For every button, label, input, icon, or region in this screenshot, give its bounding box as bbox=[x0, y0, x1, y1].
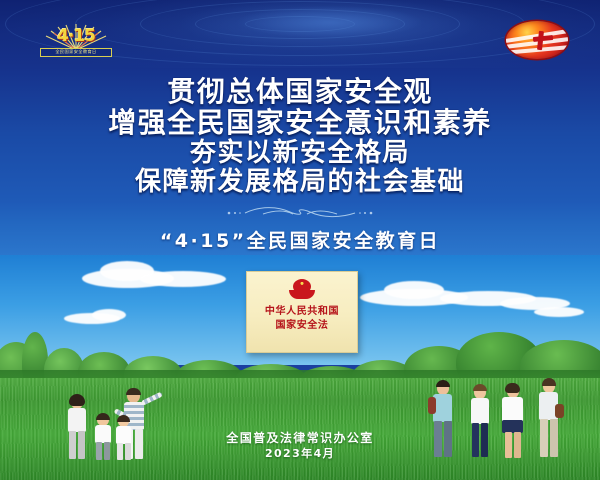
hair bbox=[436, 380, 450, 387]
cloud bbox=[92, 309, 126, 321]
national-emblem-icon bbox=[289, 278, 315, 300]
footer-organization: 全国普及法律常识办公室 bbox=[0, 431, 600, 447]
hair bbox=[126, 388, 141, 395]
poster-header-band: 4·15 全民国家安全教育日 bbox=[0, 0, 600, 68]
emblem-base bbox=[289, 290, 315, 299]
red-oval-emblem-icon bbox=[506, 21, 568, 59]
book-title-line-1: 中华人民共和国 bbox=[265, 305, 339, 319]
headline-line-4: 保障新发展格局的社会基础 bbox=[135, 169, 465, 196]
torso bbox=[502, 397, 523, 422]
headline-block: 贯彻总体国家安全观 增强全民国家安全意识和素养 夯实以新安全格局 保障新发展格局… bbox=[0, 68, 600, 205]
hair bbox=[542, 378, 556, 386]
subtitle-block: “4·15”全民国家安全教育日 bbox=[0, 223, 600, 255]
emblem-caption-box: 全民国家安全教育日 bbox=[40, 48, 112, 57]
ornamental-divider bbox=[0, 203, 600, 223]
safety-education-poster: 4·15 全民国家安全教育日 贯彻总体国家安全观 增强全民国家安全意识和素养 夯… bbox=[0, 0, 600, 480]
footer-date: 2023年4月 bbox=[0, 447, 600, 461]
hair bbox=[117, 415, 130, 422]
emblem-stars bbox=[298, 281, 306, 287]
flourish-icon bbox=[185, 206, 415, 220]
emblem-caption: 全民国家安全教育日 bbox=[55, 50, 96, 54]
national-security-law-book: 中华人民共和国 国家安全法 bbox=[246, 271, 358, 353]
footer-credits: 全国普及法律常识办公室 2023年4月 bbox=[0, 431, 600, 461]
torso bbox=[471, 398, 489, 424]
hair bbox=[69, 394, 85, 406]
torso bbox=[68, 408, 86, 432]
hair bbox=[505, 383, 520, 393]
cloud bbox=[534, 307, 584, 317]
four-fifteen-emblem-icon: 4·15 全民国家安全教育日 bbox=[40, 24, 112, 58]
headline-line-1: 贯彻总体国家安全观 bbox=[167, 77, 433, 106]
headline-line-3: 夯实以新安全格局 bbox=[190, 140, 410, 167]
backpack bbox=[428, 397, 436, 414]
emblem-number: 4·15 bbox=[40, 28, 112, 45]
cloud bbox=[140, 271, 226, 287]
hair bbox=[473, 384, 487, 391]
book-title-line-2: 国家安全法 bbox=[276, 319, 329, 333]
shoulder-bag bbox=[555, 404, 564, 418]
hair bbox=[96, 413, 110, 420]
cloud bbox=[384, 281, 444, 299]
headline-line-2: 增强全民国家安全意识和素养 bbox=[108, 108, 492, 137]
subtitle-text: “4·15”全民国家安全教育日 bbox=[160, 226, 440, 253]
